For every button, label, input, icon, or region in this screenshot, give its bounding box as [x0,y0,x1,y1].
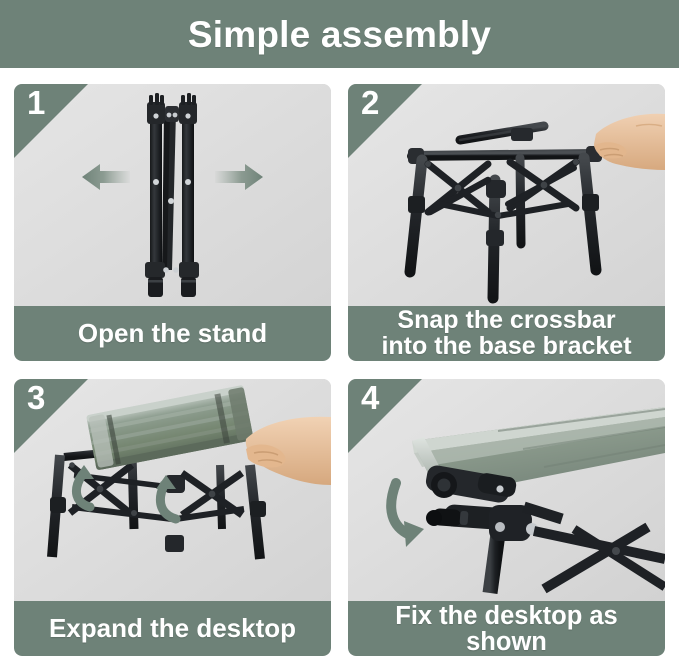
page-title: Simple assembly [188,16,491,53]
step-card-3: 3 Expand the desktop [14,379,331,656]
step-2-number: 2 [361,86,379,119]
step-card-1: 1 Open the stand [14,84,331,361]
step-card-2: 2 Snap the crossbar into the base bracke… [348,84,665,361]
step-card-4: 4 Fix the desktop as shown [348,379,665,656]
folded-legs [145,93,199,297]
step-3-caption: Expand the desktop [49,615,296,642]
step-2-caption-line-2: into the base bracket [381,332,631,360]
left-fork-bracket [147,93,165,124]
assembly-infographic: Simple assembly [0,0,679,664]
step-1-caption: Open the stand [78,320,267,347]
steps-grid: 1 Open the stand [14,84,665,656]
step-3-number: 3 [27,381,45,414]
fix-desktop-illustration [348,379,665,601]
step-1-caption-bar: Open the stand [14,306,331,361]
step-3-photo [14,379,331,601]
step-4-photo [348,379,665,601]
right-fork-bracket [179,93,197,124]
step-1-photo [14,84,331,306]
frame-crossbar-illustration [348,84,665,306]
folded-stand-illustration [14,84,331,306]
step-4-caption-bar: Fix the desktop as shown [348,601,665,656]
centre-hinge [165,106,179,122]
step-1-number: 1 [27,86,45,119]
step-2-caption-line-1: Snap the crossbar [397,306,615,334]
step-2-caption-bar: Snap the crossbar into the base bracket [348,306,665,361]
step-4-caption: Fix the desktop as shown [354,603,659,655]
header-bar: Simple assembly [0,0,679,68]
step-2-photo [348,84,665,306]
expand-desktop-illustration [14,379,331,601]
step-3-caption-bar: Expand the desktop [14,601,331,656]
step-4-number: 4 [361,381,379,414]
step-2-caption: Snap the crossbar into the base bracket [381,308,631,359]
